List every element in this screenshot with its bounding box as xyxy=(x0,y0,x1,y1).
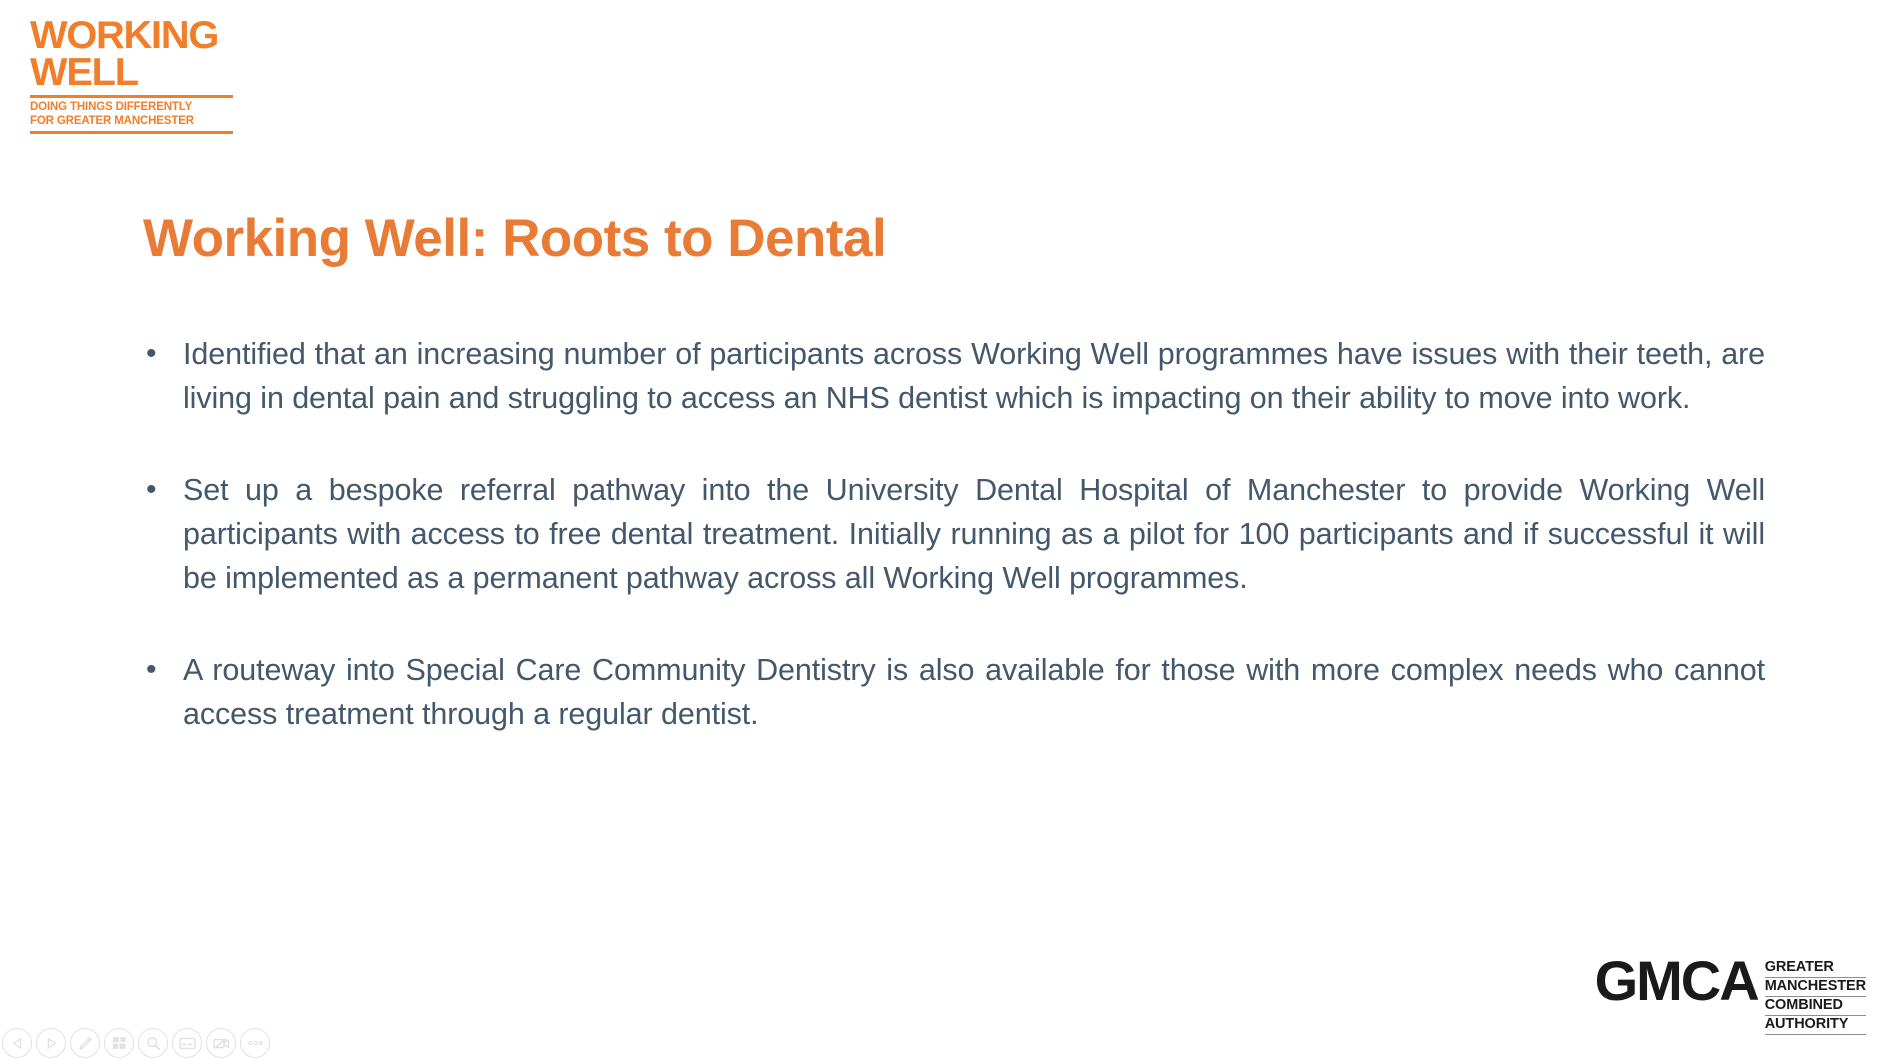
list-item: • A routeway into Special Care Community… xyxy=(143,648,1765,736)
logo-tagline-one: DOING THINGS DIFFERENTLY xyxy=(30,101,245,115)
working-well-logo: WORKING WELL DOING THINGS DIFFERENTLY FO… xyxy=(30,18,245,134)
zoom-button[interactable] xyxy=(138,1028,168,1058)
list-item: • Set up a bespoke referral pathway into… xyxy=(143,468,1765,600)
bullet-text: Identified that an increasing number of … xyxy=(183,332,1765,420)
logo-line-one: WORKING xyxy=(30,18,249,55)
list-item: • Identified that an increasing number o… xyxy=(143,332,1765,420)
presenter-toolbar xyxy=(2,1028,270,1058)
pen-annotate-button[interactable] xyxy=(70,1028,100,1058)
presentation-slide: WORKING WELL DOING THINGS DIFFERENTLY FO… xyxy=(0,0,1888,1060)
bullet-marker-icon: • xyxy=(143,332,183,376)
ellipsis-icon xyxy=(247,1040,264,1046)
grid-slides-icon xyxy=(112,1036,127,1050)
gmca-full-name: GREATER MANCHESTER COMBINED AUTHORITY xyxy=(1765,957,1866,1036)
previous-slide-button[interactable] xyxy=(2,1028,32,1058)
gmca-logo: GMCA GREATER MANCHESTER COMBINED AUTHORI… xyxy=(1595,957,1866,1036)
logo-tagline-two: FOR GREATER MANCHESTER xyxy=(30,115,245,129)
gmca-name-line: AUTHORITY xyxy=(1765,1017,1866,1035)
camera-off-button[interactable] xyxy=(206,1028,236,1058)
more-options-button[interactable] xyxy=(240,1028,270,1058)
page-title: Working Well: Roots to Dental xyxy=(143,212,886,265)
camera-off-icon xyxy=(213,1037,230,1050)
gmca-name-line: COMBINED xyxy=(1765,998,1866,1016)
triangle-left-icon xyxy=(11,1037,24,1050)
slide-grid-button[interactable] xyxy=(104,1028,134,1058)
logo-line-two: WELL xyxy=(30,55,249,92)
captions-button[interactable] xyxy=(172,1028,202,1058)
bullet-text: A routeway into Special Care Community D… xyxy=(183,648,1765,736)
bullet-marker-icon: • xyxy=(143,648,183,692)
next-slide-button[interactable] xyxy=(36,1028,66,1058)
logo-rule-bottom xyxy=(30,131,233,134)
gmca-name-line: GREATER xyxy=(1765,960,1866,978)
gmca-name-line: MANCHESTER xyxy=(1765,979,1866,997)
bullet-list: • Identified that an increasing number o… xyxy=(143,332,1765,736)
bullet-marker-icon: • xyxy=(143,468,183,512)
bullet-text: Set up a bespoke referral pathway into t… xyxy=(183,468,1765,600)
captions-icon xyxy=(179,1037,196,1050)
gmca-wordmark: GMCA xyxy=(1595,957,1765,1004)
logo-rule-top xyxy=(30,95,233,98)
magnifier-icon xyxy=(146,1036,161,1051)
pen-icon xyxy=(78,1036,93,1051)
triangle-right-icon xyxy=(45,1037,58,1050)
